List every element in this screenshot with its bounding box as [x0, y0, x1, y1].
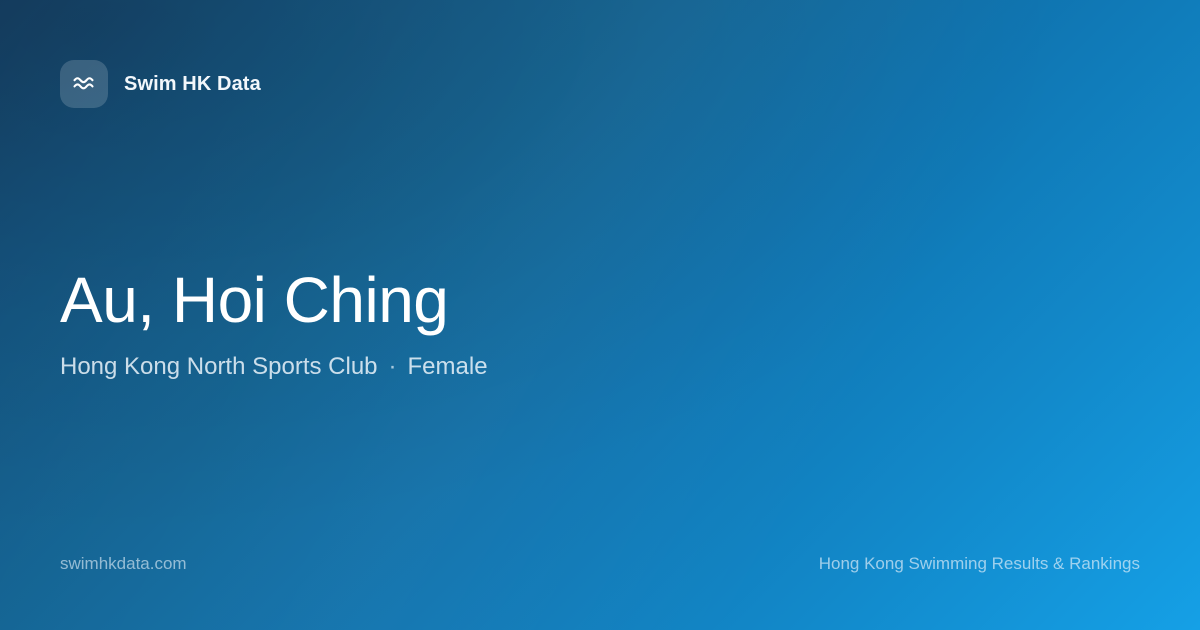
hero-block: Au, Hoi Ching Hong Kong North Sports Clu…: [60, 268, 488, 380]
card-footer: swimhkdata.com Hong Kong Swimming Result…: [60, 554, 1140, 574]
og-card: Swim HK Data Au, Hoi Ching Hong Kong Nor…: [0, 0, 1200, 630]
swimmer-club: Hong Kong North Sports Club: [60, 354, 378, 380]
brand-name: Swim HK Data: [124, 73, 261, 96]
swimmer-name: Au, Hoi Ching: [60, 268, 488, 332]
site-domain: swimhkdata.com: [60, 554, 187, 574]
swimmer-gender: Female: [408, 354, 488, 380]
meta-separator: ·: [378, 354, 408, 380]
brand-logo[interactable]: Swim HK Data: [60, 60, 261, 108]
wave-icon: [60, 60, 108, 108]
swimmer-meta: Hong Kong North Sports Club · Female: [60, 332, 488, 380]
site-tagline: Hong Kong Swimming Results & Rankings: [819, 554, 1140, 574]
